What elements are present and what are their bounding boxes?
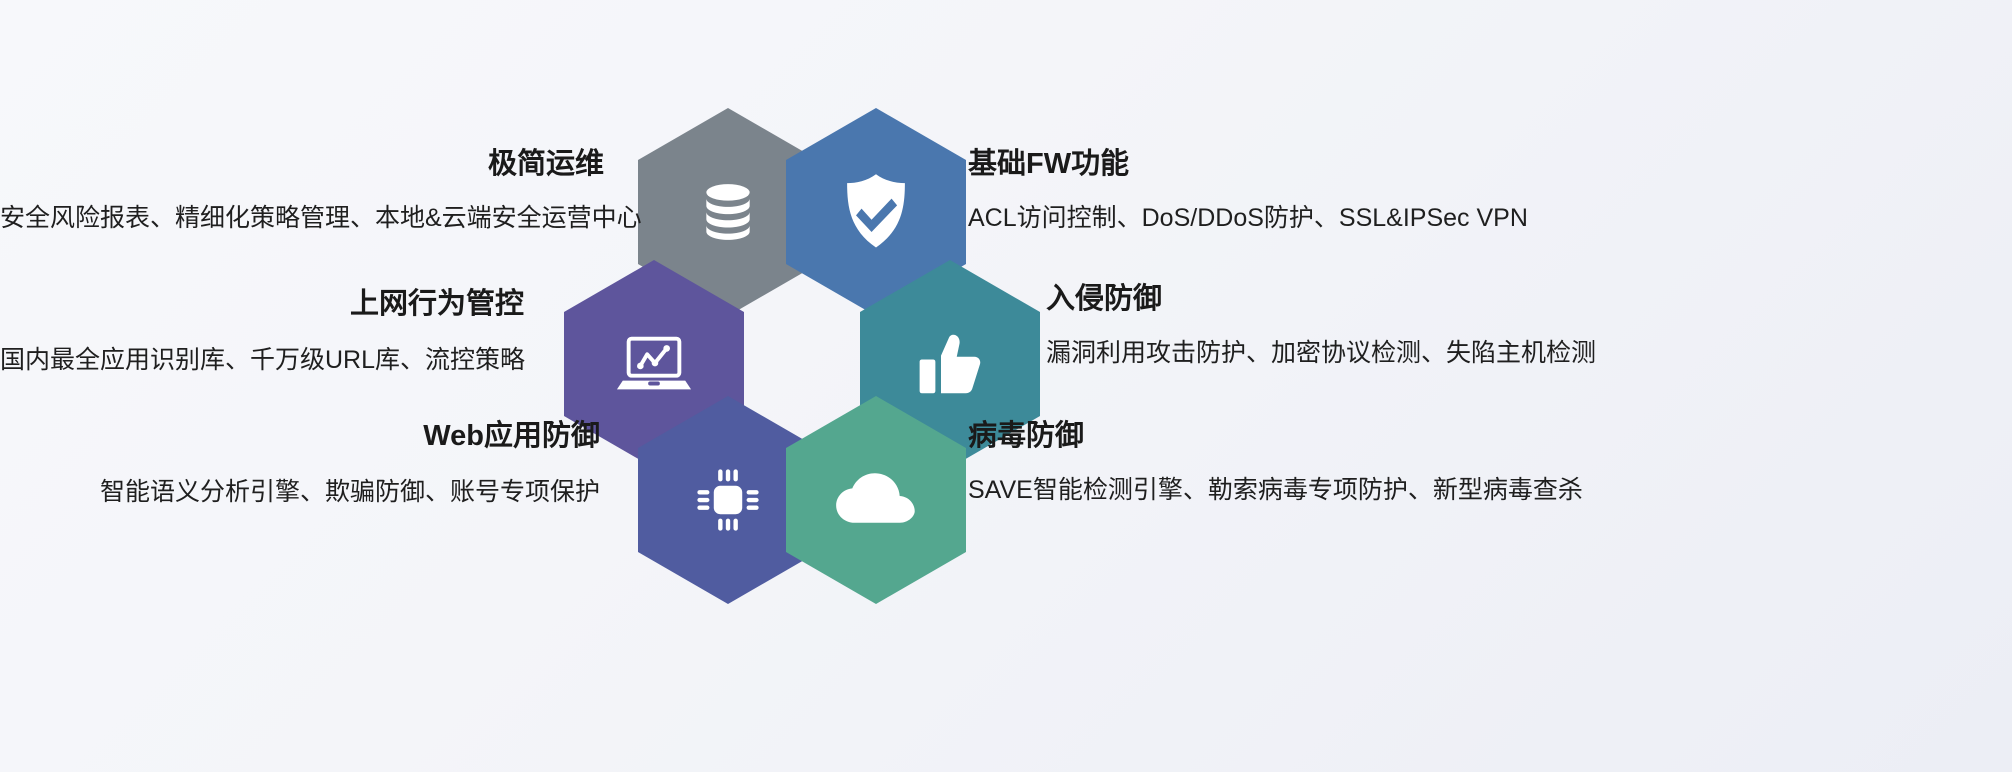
feature-text-waf: Web应用防御 智能语义分析引擎、欺骗防御、账号专项保护 bbox=[0, 420, 600, 507]
feature-title-fw: 基础FW功能 bbox=[968, 148, 1528, 181]
thumbs-up-icon bbox=[914, 328, 986, 400]
feature-text-av: 病毒防御 SAVE智能检测引擎、勒索病毒专项防护、新型病毒查杀 bbox=[968, 420, 1583, 505]
feature-text-ips: 入侵防御 漏洞利用攻击防护、加密协议检测、失陷主机检测 bbox=[1046, 283, 1596, 368]
feature-text-fw: 基础FW功能 ACL访问控制、DoS/DDoS防护、SSL&IPSec VPN bbox=[968, 148, 1528, 233]
feature-title-ips: 入侵防御 bbox=[1046, 283, 1596, 316]
feature-desc-fw: ACL访问控制、DoS/DDoS防护、SSL&IPSec VPN bbox=[968, 203, 1528, 233]
feature-hexagon-diagram: 极简运维 安全风险报表、精细化策略管理、本地&云端安全运营中心 基础FW功能 A… bbox=[0, 0, 2012, 772]
feature-text-behavior: 上网行为管控 国内最全应用识别库、千万级URL库、流控策略 bbox=[0, 288, 524, 375]
feature-desc-ips: 漏洞利用攻击防护、加密协议检测、失陷主机检测 bbox=[1046, 338, 1596, 368]
feature-title-waf: Web应用防御 bbox=[0, 420, 600, 453]
feature-desc-av: SAVE智能检测引擎、勒索病毒专项防护、新型病毒查杀 bbox=[968, 475, 1583, 505]
feature-title-ops: 极简运维 bbox=[0, 148, 604, 181]
feature-text-ops: 极简运维 安全风险报表、精细化策略管理、本地&云端安全运营中心 bbox=[0, 148, 604, 233]
feature-title-behavior: 上网行为管控 bbox=[0, 288, 524, 321]
feature-desc-waf: 智能语义分析引擎、欺骗防御、账号专项保护 bbox=[0, 477, 600, 507]
database-icon bbox=[695, 179, 761, 245]
feature-desc-ops: 安全风险报表、精细化策略管理、本地&云端安全运营中心 bbox=[0, 203, 604, 233]
shield-check-icon bbox=[840, 172, 912, 252]
cloud-icon bbox=[835, 459, 917, 541]
laptop-chart-icon bbox=[615, 325, 693, 403]
feature-title-av: 病毒防御 bbox=[968, 420, 1583, 453]
cpu-chip-icon bbox=[693, 465, 763, 535]
feature-desc-behavior: 国内最全应用识别库、千万级URL库、流控策略 bbox=[0, 345, 524, 375]
